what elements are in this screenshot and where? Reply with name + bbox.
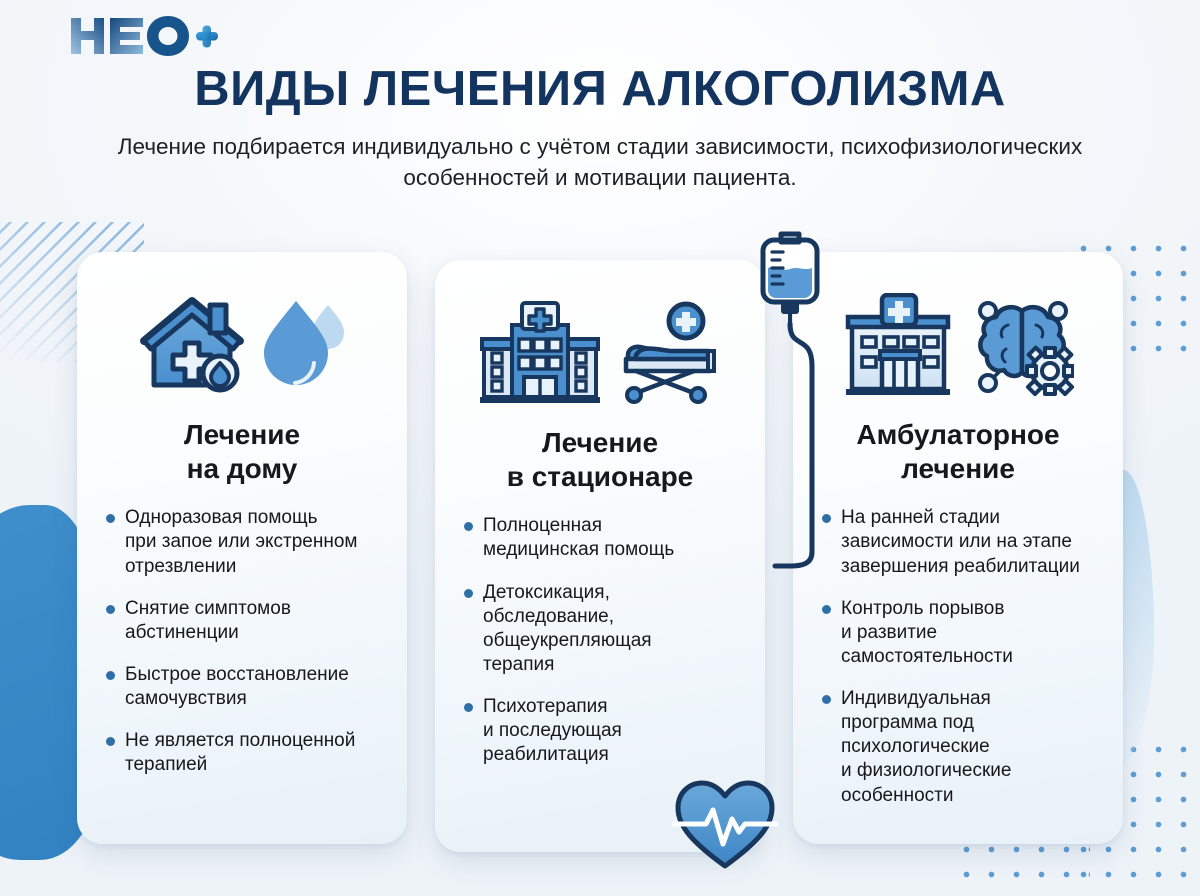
list-item: Полноценная медицинская помощь	[463, 514, 743, 562]
infographic-canvas: ВИДЫ ЛЕЧЕНИЯ АЛКОГОЛИЗМА Лечение подбира…	[0, 0, 1200, 896]
list-item: На ранней стадии зависимости или на этап…	[821, 506, 1101, 578]
list-item: Быстрое восстановление самочувствия	[105, 663, 385, 711]
list-item: Индивидуальная программа под психологиче…	[821, 687, 1101, 808]
card-icons	[138, 286, 346, 404]
card-bullets: Одноразовая помощь при запое или экстрен…	[99, 506, 385, 777]
house-medical-icon	[138, 293, 246, 397]
hospital-gurney-icon	[618, 301, 722, 405]
card-title: Лечение в стационаре	[507, 426, 694, 494]
card-home-treatment[interactable]: Лечение на дому Одноразовая помощь при з…	[77, 252, 407, 844]
card-icons	[842, 286, 1074, 404]
list-item: Психотерапия и последующая реабилитация	[463, 695, 743, 767]
page-subtitle: Лечение подбирается индивидуально с учёт…	[95, 132, 1105, 193]
water-droplet-icon	[262, 293, 346, 397]
page-title: ВИДЫ ЛЕЧЕНИЯ АЛКОГОЛИЗМА	[0, 64, 1200, 116]
list-item: Детоксикация, обследование, общеукрепляю…	[463, 581, 743, 678]
card-title: Амбулаторное лечение	[856, 418, 1059, 486]
treatment-cards: Лечение на дому Одноразовая помощь при з…	[0, 252, 1200, 862]
list-item: Одноразовая помощь при запое или экстрен…	[105, 506, 385, 578]
card-title: Лечение на дому	[184, 418, 300, 486]
card-bullets: Полноценная медицинская помощь Детоксика…	[457, 514, 743, 767]
brain-gear-icon	[970, 293, 1074, 397]
card-inpatient-treatment[interactable]: Лечение в стационаре Полноценная медицин…	[435, 260, 765, 852]
header: ВИДЫ ЛЕЧЕНИЯ АЛКОГОЛИЗМА Лечение подбира…	[0, 0, 1200, 193]
list-item: Контроль порывов и развитие самостоятель…	[821, 597, 1101, 669]
iv-drip-icon	[735, 228, 845, 573]
neo-plus-logo	[68, 14, 218, 58]
list-item: Снятие симптомов абстиненции	[105, 597, 385, 645]
list-item: Не является полноценной терапией	[105, 729, 385, 777]
hospital-building-icon	[478, 301, 602, 405]
card-icons	[478, 294, 722, 412]
heart-pulse-icon	[672, 778, 778, 870]
card-bullets: На ранней стадии зависимости или на этап…	[815, 506, 1101, 807]
clinic-building-icon	[842, 293, 954, 397]
